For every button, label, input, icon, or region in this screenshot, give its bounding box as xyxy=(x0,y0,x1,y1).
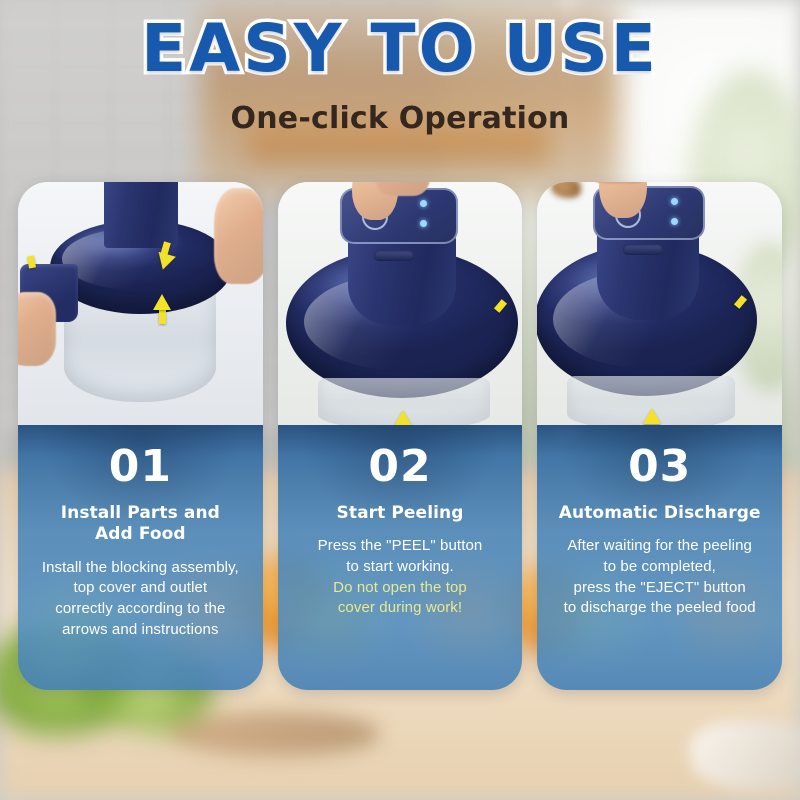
appliance-vent xyxy=(623,244,663,255)
step-description: Install the blocking assembly, top cover… xyxy=(30,558,251,641)
desc-line: top cover and outlet xyxy=(73,579,207,596)
desc-line: to discharge the peeled food xyxy=(564,599,756,616)
step-title-line: Add Food xyxy=(95,524,186,544)
step-number: 03 xyxy=(549,445,770,489)
desc-line-warning: cover during work! xyxy=(338,599,462,616)
step-photo-1 xyxy=(18,182,263,425)
step-title: Start Peeling xyxy=(290,503,511,524)
step-title: Install Parts and Add Food xyxy=(30,503,251,546)
desc-line-warning: Do not open the top xyxy=(333,579,467,596)
led-indicator-2 xyxy=(420,220,427,227)
desc-line: Press the "PEEL" button xyxy=(318,537,483,554)
page-subtitle: One-click Operation xyxy=(0,101,800,136)
step-photo-3 xyxy=(537,182,782,425)
alignment-arrow-icon xyxy=(643,408,661,424)
step-number: 01 xyxy=(30,445,251,489)
appliance-vent xyxy=(374,250,414,261)
appliance-feed-chute xyxy=(104,182,178,248)
step-title: Automatic Discharge xyxy=(549,503,770,524)
desc-line: to be completed, xyxy=(603,558,716,575)
step-info-3: 03 Automatic Discharge After waiting for… xyxy=(537,425,782,690)
step-card-1: 01 Install Parts and Add Food Install th… xyxy=(18,182,263,690)
step-title-line: Automatic Discharge xyxy=(559,503,761,523)
step-card-3: 03 Automatic Discharge After waiting for… xyxy=(537,182,782,690)
step-title-line: Install Parts and xyxy=(61,503,220,523)
background-counter-shadow xyxy=(170,712,380,756)
appliance-motor-unit xyxy=(348,230,456,326)
step-info-2: 02 Start Peeling Press the "PEEL" button… xyxy=(278,425,523,690)
desc-line: arrows and instructions xyxy=(62,621,219,638)
desc-line: After waiting for the peeling xyxy=(567,537,752,554)
infographic-page: EASY TO USE One-click Operation xyxy=(0,0,800,800)
step-card-2: 02 Start Peeling Press the "PEEL" button… xyxy=(278,182,523,690)
step-photo-2 xyxy=(278,182,523,425)
desc-line: to start working. xyxy=(346,558,454,575)
hand-left xyxy=(18,292,56,366)
alignment-arrow-2-stem xyxy=(159,308,166,324)
step-description: After waiting for the peeling to be comp… xyxy=(549,536,770,619)
page-title: EASY TO USE xyxy=(0,14,800,83)
headline-block: EASY TO USE xyxy=(0,14,800,83)
step-title-line: Start Peeling xyxy=(337,503,464,523)
desc-line: Install the blocking assembly, xyxy=(42,559,239,576)
desc-line: press the "EJECT" button xyxy=(574,579,746,596)
desc-line: correctly according to the xyxy=(55,600,225,617)
step-description: Press the "PEEL" button to start working… xyxy=(290,536,511,619)
hand-right xyxy=(214,188,263,284)
alignment-arrow-2-icon xyxy=(153,294,171,310)
background-utensil xyxy=(690,720,800,790)
alignment-arrow-icon xyxy=(394,410,412,425)
step-number: 02 xyxy=(290,445,511,489)
led-indicator-1 xyxy=(420,200,427,207)
step-info-1: 01 Install Parts and Add Food Install th… xyxy=(18,425,263,690)
steps-row: 01 Install Parts and Add Food Install th… xyxy=(18,182,782,690)
